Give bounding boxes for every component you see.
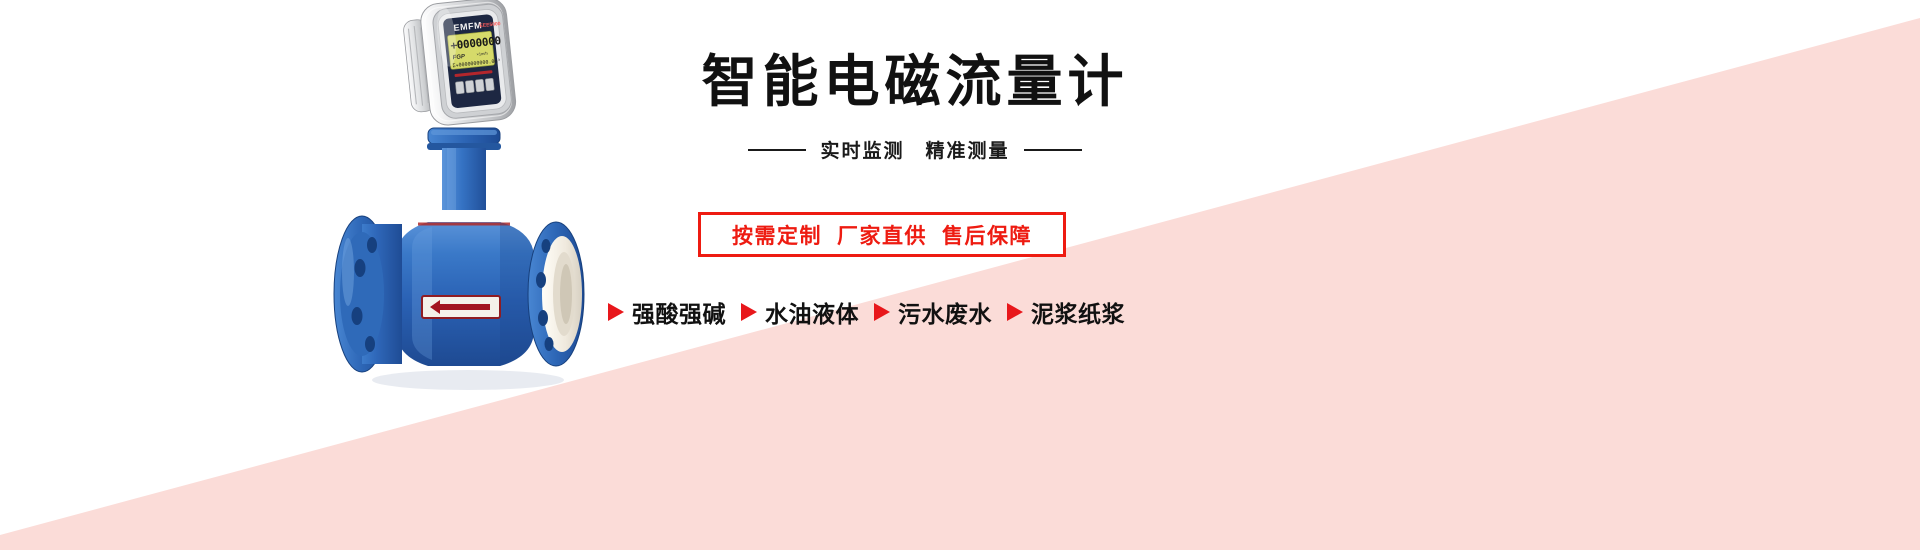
subtitle-rule-left — [748, 149, 806, 151]
flowmeter-product-image: EMFM EEE5000 +0000000 FGP ×1m/h Σ+000000… — [300, 0, 640, 420]
promo-badge: 按需定制厂家直供售后保障 — [698, 212, 1066, 257]
triangle-right-icon — [874, 303, 890, 321]
triangle-right-icon — [608, 303, 624, 321]
transmitter-mount-flange — [427, 128, 501, 150]
feature-label-1: 水油液体 — [765, 295, 859, 329]
feature-item-0: 强酸强碱 — [608, 295, 726, 329]
triangle-right-icon — [1007, 303, 1023, 321]
feature-item-1: 水油液体 — [741, 295, 859, 329]
flowmeter-neck — [442, 148, 486, 210]
feature-label-0: 强酸强碱 — [632, 295, 726, 329]
inlet-flange — [334, 216, 402, 372]
flow-direction-arrow-icon — [422, 296, 500, 318]
product-hero-banner: EMFM EEE5000 +0000000 FGP ×1m/h Σ+000000… — [0, 0, 1920, 550]
promo-item-2: 售后保障 — [942, 225, 1032, 248]
page-subtitle: 实时监测 精准测量 — [820, 136, 1009, 163]
flowmeter-body — [396, 222, 534, 366]
outlet-flange — [528, 222, 584, 366]
triangle-right-icon — [741, 303, 757, 321]
feature-item-2: 污水废水 — [874, 295, 992, 329]
feature-item-3: 泥浆纸浆 — [1007, 295, 1125, 329]
promo-item-1: 厂家直供 — [837, 225, 927, 248]
feature-list: 强酸强碱 水油液体 污水废水 泥浆纸浆 — [608, 295, 1208, 329]
banner-copy-block: 智能电磁流量计 实时监测 精准测量 按需定制厂家直供售后保障 强酸强碱 水油液体… — [600, 0, 1500, 550]
promo-item-0: 按需定制 — [732, 225, 822, 248]
page-title: 智能电磁流量计 — [675, 53, 1155, 112]
feature-label-2: 污水废水 — [898, 295, 992, 329]
transmitter-head: EMFM EEE5000 +0000000 FGP ×1m/h Σ+000000… — [401, 0, 517, 129]
subtitle-rule-right — [1024, 149, 1082, 151]
subtitle-row: 实时监测 精准测量 — [675, 136, 1155, 163]
feature-label-3: 泥浆纸浆 — [1031, 295, 1125, 329]
promo-badge-text: 按需定制厂家直供售后保障 — [732, 220, 1032, 250]
